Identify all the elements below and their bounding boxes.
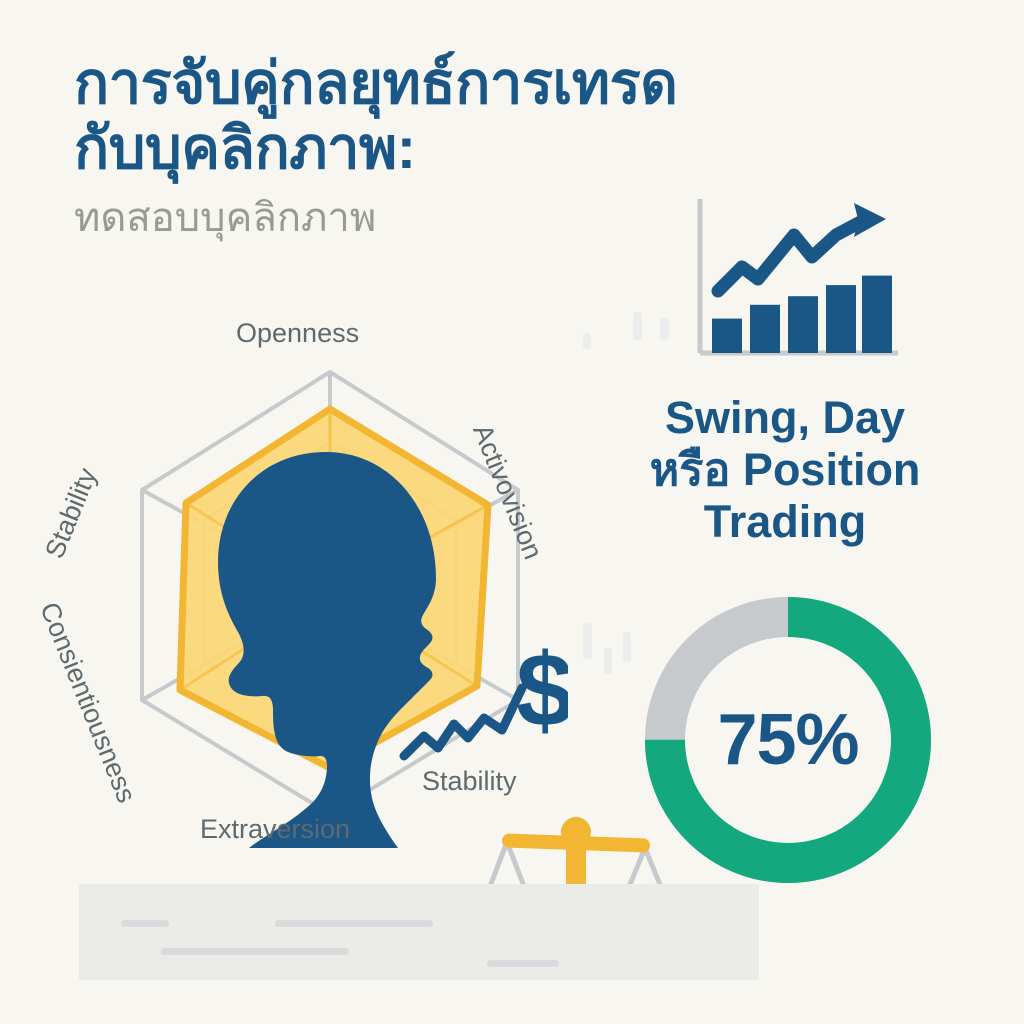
- bar-2: [750, 305, 780, 353]
- footer-placeholder-panel: [79, 884, 759, 980]
- skeleton-line: [275, 920, 433, 927]
- skeleton-line: [161, 948, 349, 955]
- radar-label-openness: Openness: [236, 318, 359, 349]
- right-heading-line-3: Trading: [620, 496, 950, 548]
- right-heading-block: Swing, Day หรือ Position Trading: [620, 392, 950, 549]
- page-title-line-1: การจับคู่กลยุทธ์การเทรด: [74, 52, 694, 117]
- page-title-line-2: กับบุคลิกภาพ:: [74, 117, 694, 182]
- dollar-sparkline-group: $: [398, 638, 568, 768]
- trend-arrow-icon: [718, 219, 866, 291]
- radar-label-extraversion: Extraversion: [200, 814, 350, 845]
- right-heading-line-1: Swing, Day: [620, 392, 950, 444]
- radar-label-stability-right: Stability: [422, 766, 517, 797]
- infographic-poster: การจับคู่กลยุทธ์การเทรด กับบุคลิกภาพ: ทด…: [0, 0, 1024, 1024]
- sparkline-icon: [404, 688, 522, 756]
- personality-radar-chart: Openness Activovision Stability Extraver…: [40, 300, 620, 880]
- skeleton-line: [487, 960, 559, 967]
- decor-tick: [633, 312, 642, 340]
- skeleton-line: [121, 920, 169, 927]
- right-heading-line-2: หรือ Position: [620, 444, 950, 496]
- decor-tick: [660, 318, 669, 340]
- bar-1: [712, 319, 742, 353]
- bar-4: [826, 285, 856, 353]
- page-subtitle: ทดสอบบุคลิกภาพ: [74, 194, 694, 242]
- bar-3: [788, 296, 818, 353]
- bar-5: [862, 276, 892, 353]
- arrow-head-icon: [854, 203, 886, 237]
- dollar-sign-icon: $: [516, 638, 568, 749]
- bar-chart-growth-icon: [690, 195, 945, 375]
- decor-tick: [623, 632, 631, 662]
- headline-block: การจับคู่กลยุทธ์การเทรด กับบุคลิกภาพ: ทด…: [74, 52, 694, 242]
